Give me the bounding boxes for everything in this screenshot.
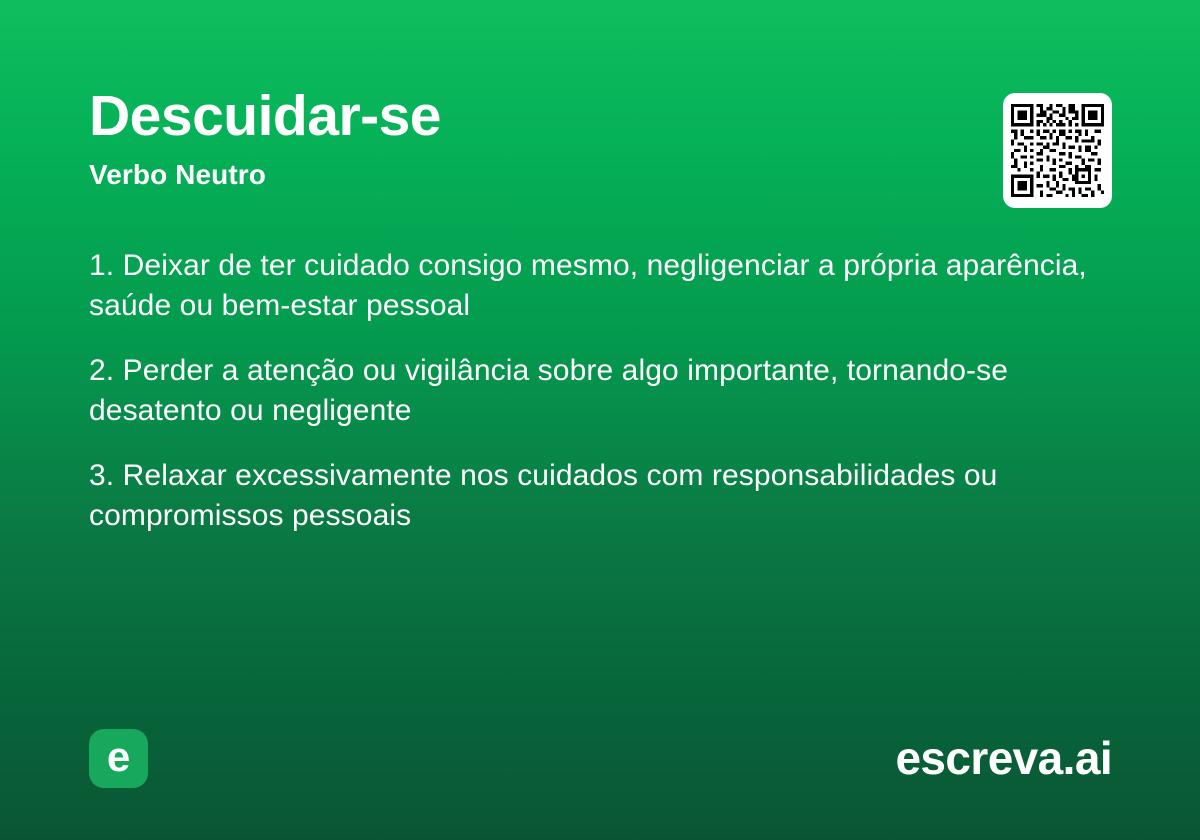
qr-code-panel[interactable] <box>1003 93 1112 208</box>
card-footer: e escreva.ai <box>89 728 1112 788</box>
card-header: Descuidar-se Verbo Neutro <box>89 86 1111 191</box>
brand-logo[interactable]: e <box>89 729 148 788</box>
definition-list: 1. Deixar de ter cuidado consigo mesmo, … <box>89 246 1089 536</box>
definition-item: 2. Perder a atenção ou vigilância sobre … <box>89 351 1089 431</box>
page-title: Descuidar-se <box>89 86 1111 148</box>
dictionary-card: Descuidar-se Verbo Neutro <box>0 0 1200 840</box>
brand-wordmark: escreva.ai <box>895 735 1112 781</box>
brand-logo-letter: e <box>107 736 130 778</box>
word-class-label: Verbo Neutro <box>89 158 1111 192</box>
definition-item: 3. Relaxar excessivamente nos cuidados c… <box>89 456 1089 536</box>
qr-code-icon <box>1011 104 1104 197</box>
definition-item: 1. Deixar de ter cuidado consigo mesmo, … <box>89 246 1089 326</box>
